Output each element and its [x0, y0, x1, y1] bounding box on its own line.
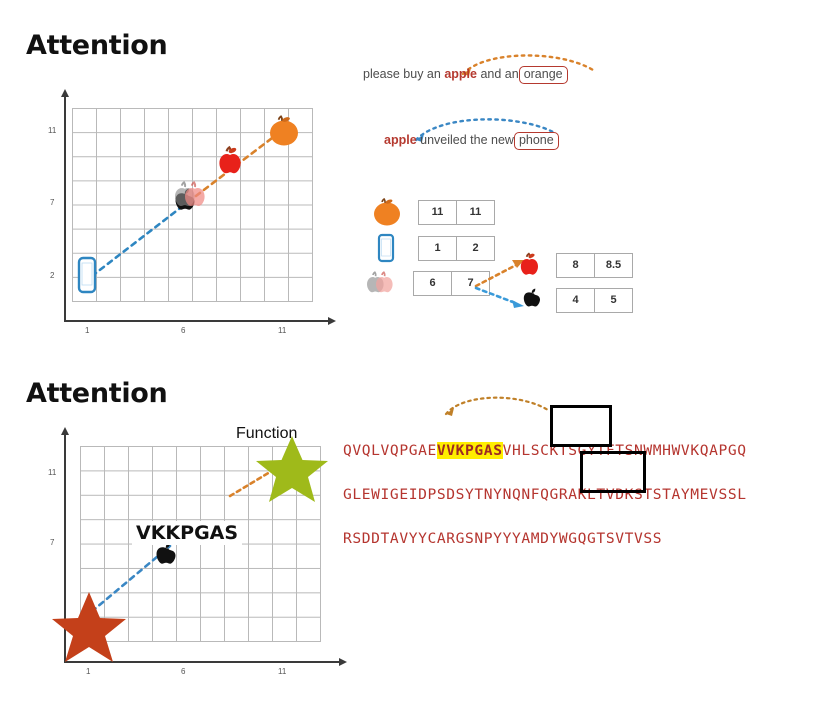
vector-row-orange: 11 11 [370, 198, 495, 226]
seq-seg-plain: QVQLVQPGAE [343, 442, 437, 459]
orange-fruit-icon [370, 198, 404, 226]
vector-row-apple-ambiguous: 6 7 [365, 268, 490, 298]
sentence-orange-boxed-orange: orange [519, 66, 568, 84]
sentence-phone-boxed-phone: phone [514, 132, 559, 150]
protein-sequence: QVQLVQPGAEVVKPGASVHLSCKTSGYTFTSNWMHWVKQA… [343, 418, 747, 572]
apple-logo-icon [152, 540, 184, 574]
vkkpgas-label: VKKPGAS [132, 521, 242, 545]
protein-sequence-line: QVQLVQPGAEVVKPGASVHLSCKTSGYTFTSNWMHWVKQA… [343, 440, 747, 462]
bottom-attention-chart: 11 7 1 6 11 [40, 428, 350, 678]
section-title-bottom: Attention [26, 378, 167, 409]
phone-icon [372, 233, 400, 263]
top-attention-chart: 11 7 2 1 6 11 [40, 90, 340, 340]
orange-fruit-icon [266, 112, 304, 152]
vector-table-apple-logo: 4 5 [556, 288, 633, 313]
seq-seg-highlight: VVKPGAS [437, 442, 503, 459]
phone-icon [76, 256, 100, 296]
red-star-icon [48, 588, 130, 664]
apple-logo-icon [520, 285, 548, 315]
sentence-phone: apple unveiled the newphone [384, 132, 559, 150]
vector-cell: 6 [414, 272, 452, 295]
apple-fruit-red-icon [518, 250, 548, 280]
vector-table-orange: 11 11 [418, 200, 495, 225]
sentence-orange-word-apple: apple [444, 67, 477, 81]
cdr-box-bottom [580, 451, 646, 493]
vector-row-apple-red: 8 8.5 [518, 250, 633, 280]
cdr-box-top [550, 405, 612, 447]
apple-ambiguous-icon [365, 268, 405, 298]
vector-cell: 5 [595, 289, 632, 312]
apple-ambiguous-icon [168, 172, 214, 218]
vector-cell: 11 [419, 201, 457, 224]
apple-fruit-red-icon [216, 142, 252, 180]
vector-cell: 4 [557, 289, 595, 312]
vector-row-apple-logo: 4 5 [520, 285, 633, 315]
vector-table-apple-red: 8 8.5 [556, 253, 633, 278]
sentence-phone-part-1: unveiled the new [417, 133, 514, 147]
protein-sequence-line: GLEWIGEIDPSDSYTNYNQNFQGRAKLTVDKSTSTAYMEV… [343, 484, 747, 506]
vector-cell: 8.5 [595, 254, 632, 277]
sentence-phone-word-apple: apple [384, 133, 417, 147]
vector-cell: 11 [457, 201, 494, 224]
section-title-top: Attention [26, 30, 167, 61]
protein-sequence-line: RSDDTAVYYCARGSNPYYYAMDYWGQGTSVTVSS [343, 528, 747, 550]
vector-cell: 1 [419, 237, 457, 260]
sentence-orange: please buy an apple and anorange [363, 66, 568, 84]
vector-cell: 8 [557, 254, 595, 277]
sentence-orange-part-0: please buy an [363, 67, 444, 81]
function-label: Function [236, 425, 297, 443]
protein-attention-arrow [440, 392, 560, 418]
sentence-orange-part-2: and an [477, 67, 519, 81]
